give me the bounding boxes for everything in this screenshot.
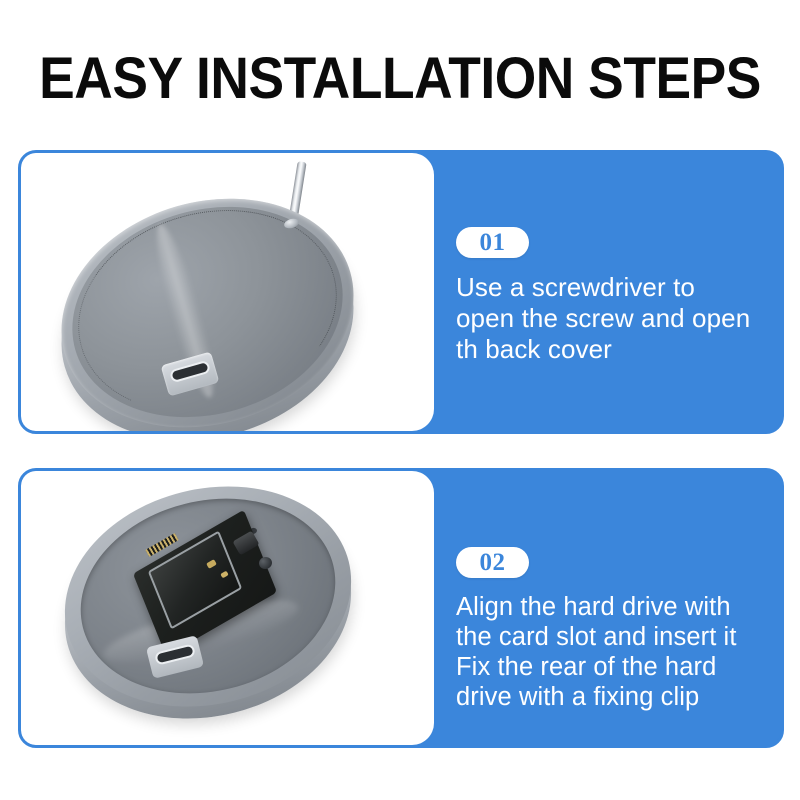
- page-title: EASY INSTALLATION STEPS: [32, 48, 768, 110]
- step-description-01: Use a screwdriver to open the screw and …: [456, 272, 756, 365]
- step-card-01: 01 Use a screwdriver to open the screw a…: [18, 150, 784, 434]
- step-number-badge-01: 01: [456, 227, 529, 258]
- step-01-image-panel: [21, 153, 434, 431]
- device-illustration-open-enclosure: [21, 471, 434, 745]
- product-installation-infographic: EASY INSTALLATION STEPS 01 Use a screwdr…: [0, 0, 800, 800]
- step-number-badge-02: 02: [456, 547, 529, 578]
- step-card-02: 02 Align the hard drive with the card sl…: [18, 468, 784, 748]
- device-illustration-closed-enclosure: [21, 153, 434, 431]
- step-02-image-panel: [21, 471, 434, 745]
- step-description-02: Align the hard drive with the card slot …: [456, 592, 758, 712]
- step-02-text-panel: 02 Align the hard drive with the card sl…: [434, 471, 781, 745]
- step-01-text-panel: 01 Use a screwdriver to open the screw a…: [434, 153, 781, 431]
